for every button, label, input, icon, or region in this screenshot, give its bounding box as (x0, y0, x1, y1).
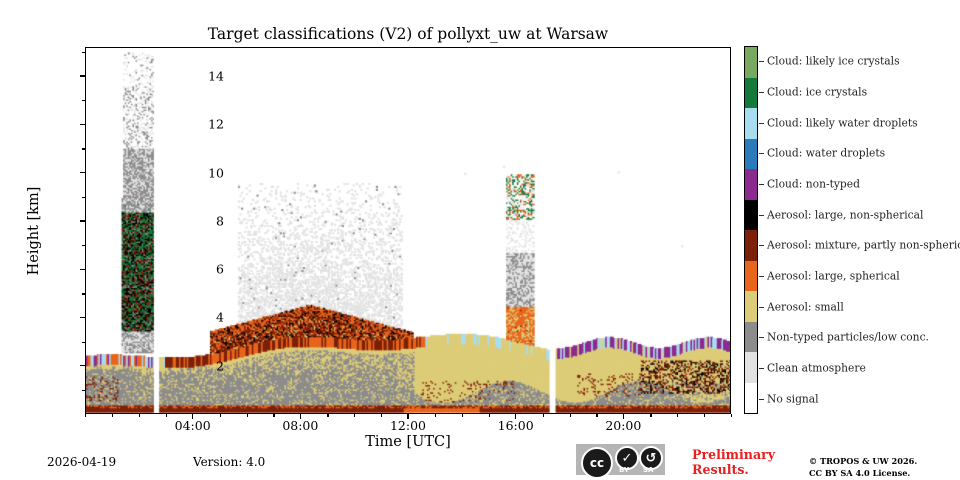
legend-label: Cloud: likely water droplets (767, 116, 918, 129)
x-tick-minor (650, 414, 651, 417)
lidar-target-classification-figure: Target classifications (V2) of pollyxt_u… (0, 0, 960, 480)
legend-label: Cloud: water droplets (767, 147, 885, 160)
y-axis-label: Height [km] (26, 186, 42, 275)
y-tick-label: 12 (208, 117, 224, 132)
x-tick-minor (704, 414, 705, 417)
y-tick (80, 172, 85, 173)
x-tick-minor (596, 414, 597, 417)
x-tick-minor (85, 414, 86, 417)
x-tick-minor (112, 414, 113, 417)
y-tick (80, 124, 85, 125)
x-tick-minor (543, 414, 544, 417)
legend-swatch (745, 352, 757, 383)
y-tick (80, 269, 85, 270)
legend-tick (759, 92, 764, 93)
x-tick-label: 16:00 (498, 418, 534, 433)
legend-colorbar (744, 46, 758, 414)
legend-label: Cloud: ice crystals (767, 86, 867, 99)
legend-label: Cloud: non-typed (767, 178, 860, 191)
y-tick-minor (82, 293, 85, 294)
legend-tick (759, 153, 764, 154)
y-tick (80, 220, 85, 221)
x-tick-minor (139, 414, 140, 417)
x-tick-label: 20:00 (605, 418, 641, 433)
legend-swatch (745, 47, 757, 78)
y-tick-label: 2 (216, 358, 224, 373)
plot-area (85, 47, 731, 414)
x-tick-minor (570, 414, 571, 417)
legend-tick (759, 123, 764, 124)
copyright-line-2: CC BY SA 4.0 License. (809, 468, 917, 480)
legend-tick (759, 368, 764, 369)
y-tick-minor (82, 100, 85, 101)
page-title: Target classifications (V2) of pollyxt_u… (85, 25, 731, 43)
x-tick-minor (354, 414, 355, 417)
x-tick-label: 12:00 (390, 418, 426, 433)
x-tick (515, 414, 516, 419)
y-tick-label: 8 (216, 213, 224, 228)
x-tick-label: 08:00 (282, 418, 318, 433)
x-tick-minor (435, 414, 436, 417)
legend-swatch (745, 383, 757, 414)
legend-swatch (745, 139, 757, 170)
legend-swatch (745, 108, 757, 139)
legend-tick (759, 307, 764, 308)
cc-icon: cc (581, 447, 613, 479)
x-tick (623, 414, 624, 419)
x-tick (407, 414, 408, 419)
y-tick-minor (82, 390, 85, 391)
y-tick (80, 365, 85, 366)
legend-swatch (745, 322, 757, 353)
legend-label: Aerosol: small (767, 300, 844, 313)
legend-swatch (745, 291, 757, 322)
x-tick-minor (220, 414, 221, 417)
legend-swatch (745, 200, 757, 231)
cc-sa-label: SA (643, 466, 653, 474)
y-tick-label: 4 (216, 310, 224, 325)
legend-tick (759, 399, 764, 400)
y-tick-minor (82, 148, 85, 149)
legend-label: Aerosol: large, spherical (767, 270, 900, 283)
legend-swatch (745, 169, 757, 200)
y-tick-label: 6 (216, 262, 224, 277)
legend-tick (759, 276, 764, 277)
legend-label: Cloud: likely ice crystals (767, 55, 900, 68)
x-tick-label: 04:00 (175, 418, 211, 433)
classification-heatmap (86, 48, 731, 414)
preliminary-line-1: Preliminary (692, 448, 775, 463)
x-tick (300, 414, 301, 419)
x-tick-minor (731, 414, 732, 417)
x-tick-minor (247, 414, 248, 417)
y-tick-minor (82, 197, 85, 198)
x-tick-minor (489, 414, 490, 417)
x-tick-minor (327, 414, 328, 417)
legend-label: No signal (767, 392, 819, 405)
x-tick-minor (166, 414, 167, 417)
y-tick (80, 75, 85, 76)
y-tick-label: 14 (208, 68, 224, 83)
footer-date: 2026-04-19 (47, 455, 116, 469)
x-tick (192, 414, 193, 419)
cc-by-label: BY (619, 466, 629, 474)
copyright-notice: © TROPOS & UW 2026. CC BY SA 4.0 License… (809, 456, 917, 479)
preliminary-line-2: Results. (692, 463, 775, 478)
y-tick-minor (82, 52, 85, 53)
copyright-line-1: © TROPOS & UW 2026. (809, 456, 917, 468)
legend-tick (759, 184, 764, 185)
legend-tick (759, 337, 764, 338)
legend-swatch (745, 230, 757, 261)
x-tick-minor (381, 414, 382, 417)
y-tick (80, 317, 85, 318)
legend-label: Aerosol: mixture, partly non-spherical (767, 239, 960, 252)
y-tick-minor (82, 342, 85, 343)
legend-tick (759, 61, 764, 62)
legend-label: Clean atmosphere (767, 362, 866, 375)
legend-label: Non-typed particles/low conc. (767, 331, 929, 344)
y-tick-label: 10 (208, 165, 224, 180)
y-tick-minor (82, 245, 85, 246)
x-tick-minor (677, 414, 678, 417)
x-tick-minor (273, 414, 274, 417)
footer-version: Version: 4.0 (193, 455, 265, 469)
preliminary-results-notice: Preliminary Results. (692, 448, 775, 478)
legend-swatch (745, 261, 757, 292)
legend-label: Aerosol: large, non-spherical (767, 208, 923, 221)
x-tick-minor (462, 414, 463, 417)
legend-tick (759, 245, 764, 246)
creative-commons-badge: cc ✓ ↺ BY SA (576, 444, 665, 475)
legend-swatch (745, 78, 757, 109)
legend-tick (759, 215, 764, 216)
